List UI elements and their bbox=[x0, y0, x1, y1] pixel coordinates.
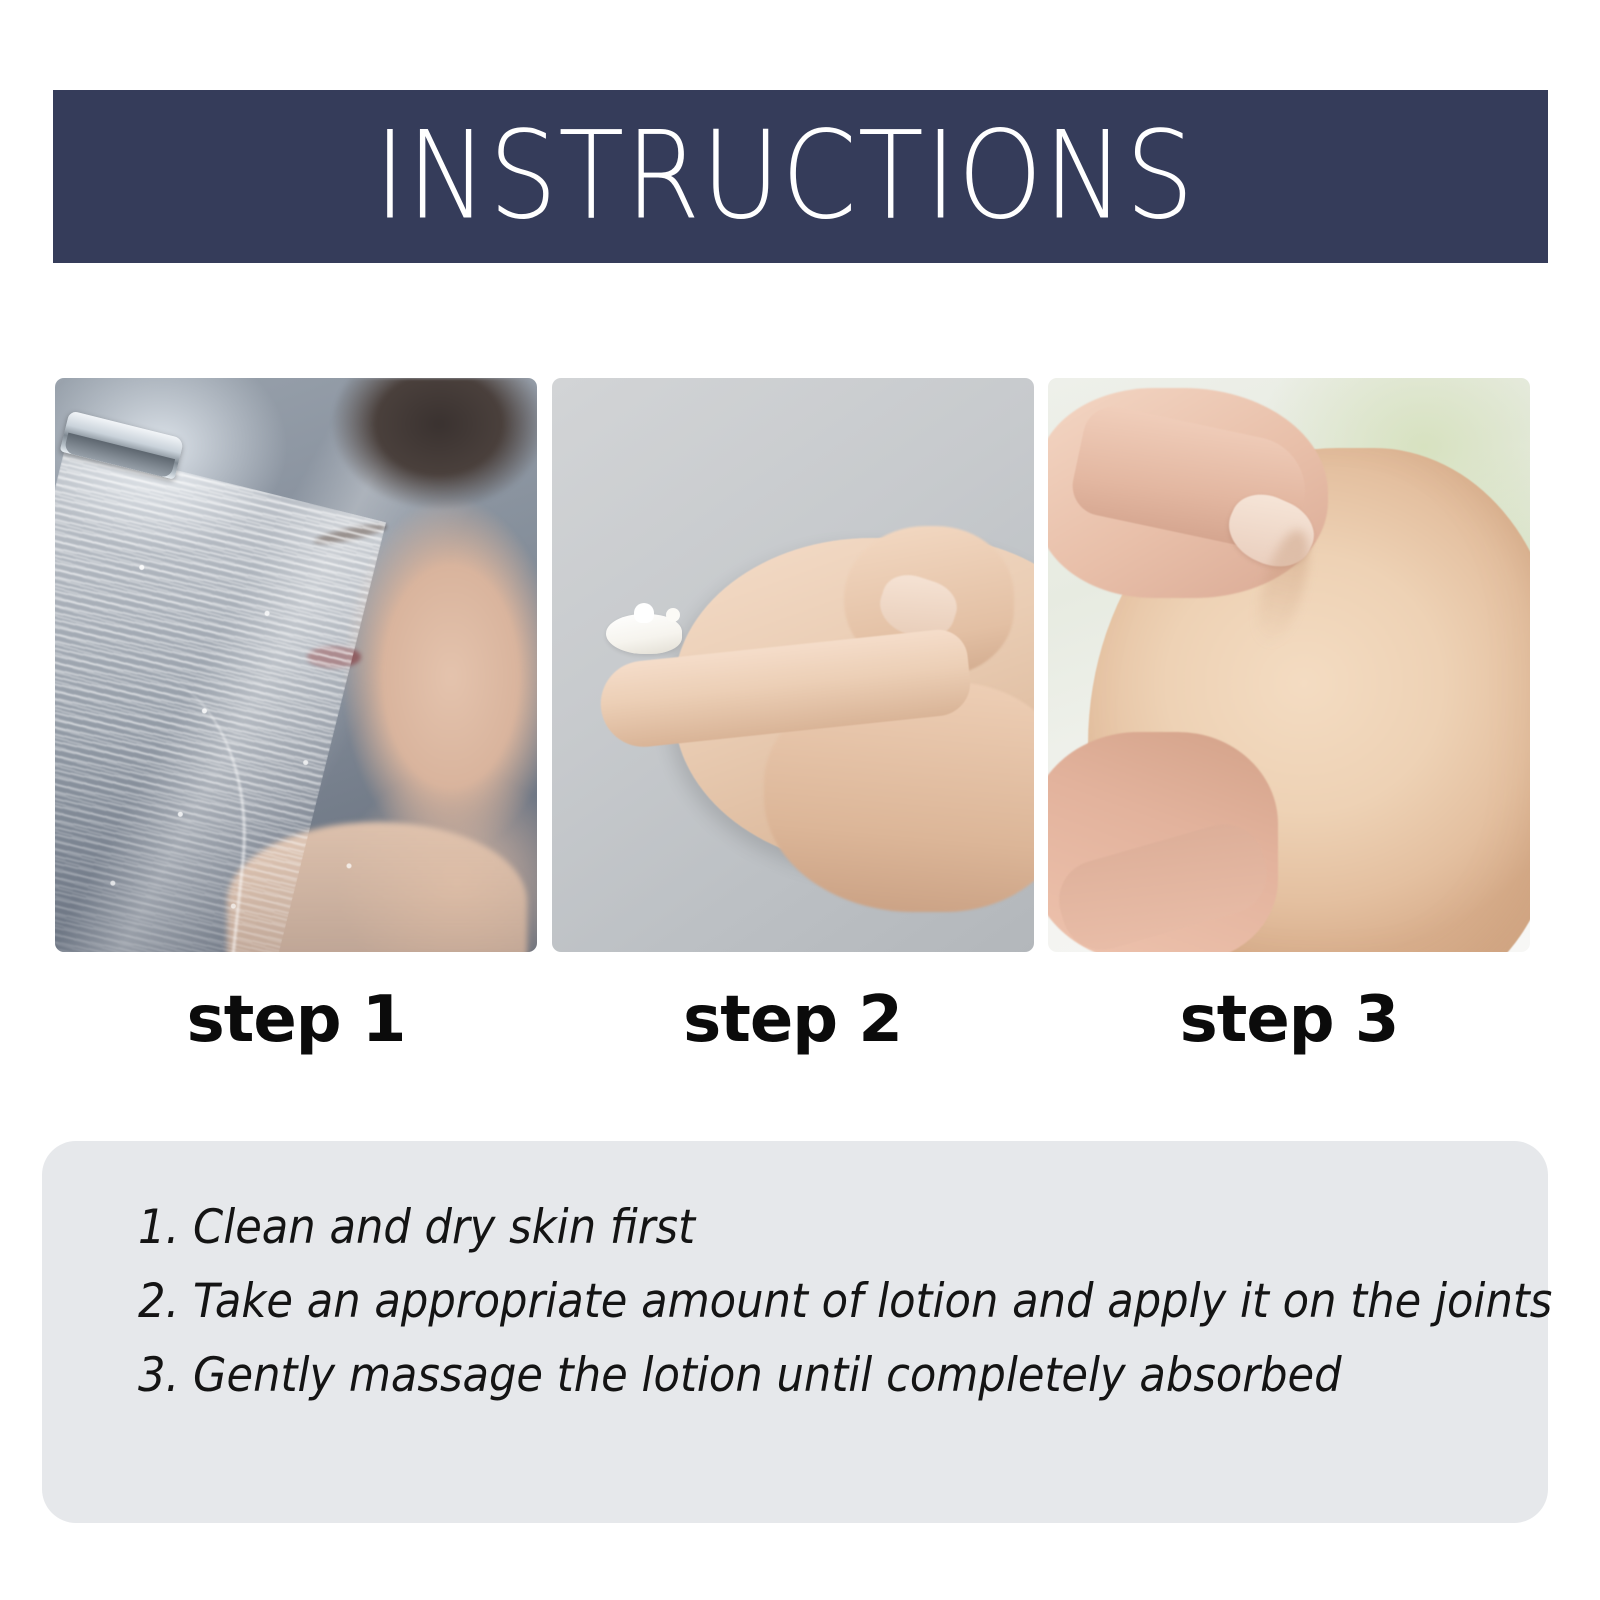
instructions-list: 1. Clean and dry skin first 2. Take an a… bbox=[138, 1191, 1488, 1413]
lotion-dollop bbox=[606, 614, 682, 654]
step-label-1: step 1 bbox=[187, 988, 406, 1052]
massage-joint-photo bbox=[1048, 378, 1530, 952]
step-item-3: step 3 bbox=[1048, 378, 1530, 1052]
page-title: INSTRUCTIONS bbox=[374, 116, 1195, 237]
lotion-on-finger-photo bbox=[552, 378, 1034, 952]
instructions-page: INSTRUCTIONS step 1 bbox=[0, 0, 1600, 1600]
step-item-2: step 2 bbox=[552, 378, 1034, 1052]
shower-photo bbox=[55, 378, 537, 952]
instruction-item-1: 1. Clean and dry skin first bbox=[138, 1191, 1380, 1265]
instruction-item-3: 3. Gently massage the lotion until compl… bbox=[138, 1339, 1380, 1413]
step-label-3: step 3 bbox=[1180, 988, 1399, 1052]
instruction-item-2: 2. Take an appropriate amount of lotion … bbox=[138, 1265, 1380, 1339]
step-item-1: step 1 bbox=[55, 378, 537, 1052]
header-banner: INSTRUCTIONS bbox=[53, 90, 1548, 263]
steps-row: step 1 step 2 step 3 bbox=[55, 378, 1530, 1052]
step-label-2: step 2 bbox=[683, 988, 902, 1052]
instructions-card: 1. Clean and dry skin first 2. Take an a… bbox=[42, 1141, 1548, 1523]
